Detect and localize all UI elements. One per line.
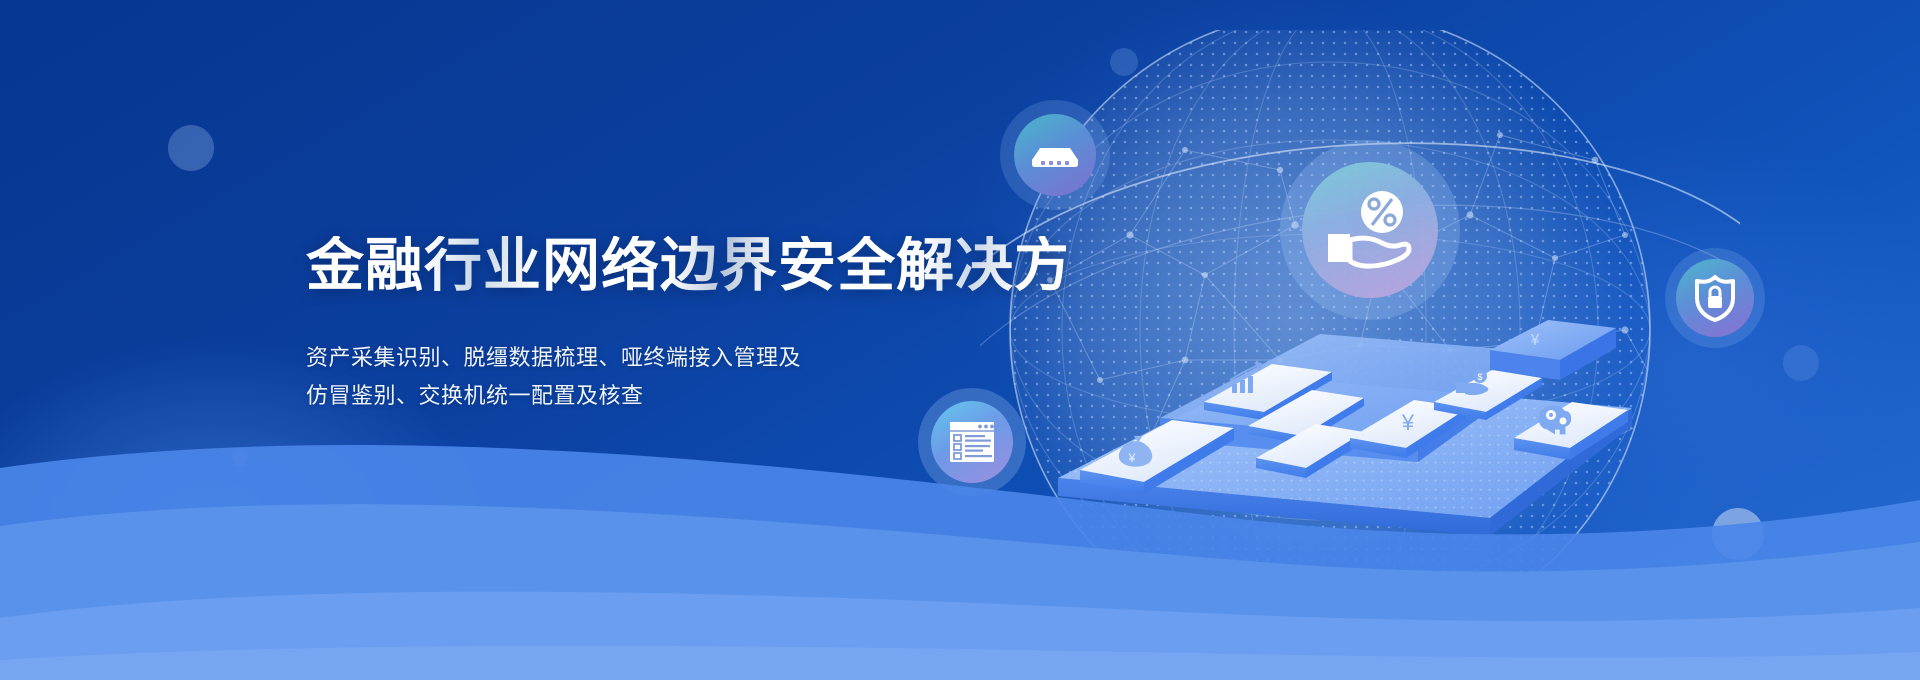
finance-security-banner: ¥ ¥	[0, 0, 1920, 680]
svg-text:¥: ¥	[1530, 332, 1540, 349]
page-subtitle: 资产采集识别、脱缰数据梳理、哑终端接入管理及 仿冒鉴别、交换机统一配置及核查	[306, 339, 1066, 416]
bokeh-circle-1	[168, 125, 214, 171]
bubble-network-switch[interactable]	[1000, 100, 1110, 210]
bubble-shield-lock[interactable]	[1665, 248, 1765, 348]
network-switch-icon	[1028, 138, 1082, 172]
banner-text-block: 金融行业网络边界安全解决方案 资产采集识别、脱缰数据梳理、哑终端接入管理及 仿冒…	[306, 236, 1066, 416]
bubble-percent-hand[interactable]	[1280, 140, 1460, 320]
page-title: 金融行业网络边界安全解决方案	[306, 236, 1066, 297]
page-subtitle-line-1: 资产采集识别、脱缰数据梳理、哑终端接入管理及	[306, 339, 1066, 378]
percent-hand-icon	[1322, 188, 1418, 272]
document-list-icon	[948, 420, 996, 464]
shield-lock-icon	[1693, 274, 1737, 322]
page-subtitle-line-2: 仿冒鉴别、交换机统一配置及核查	[306, 377, 1066, 416]
